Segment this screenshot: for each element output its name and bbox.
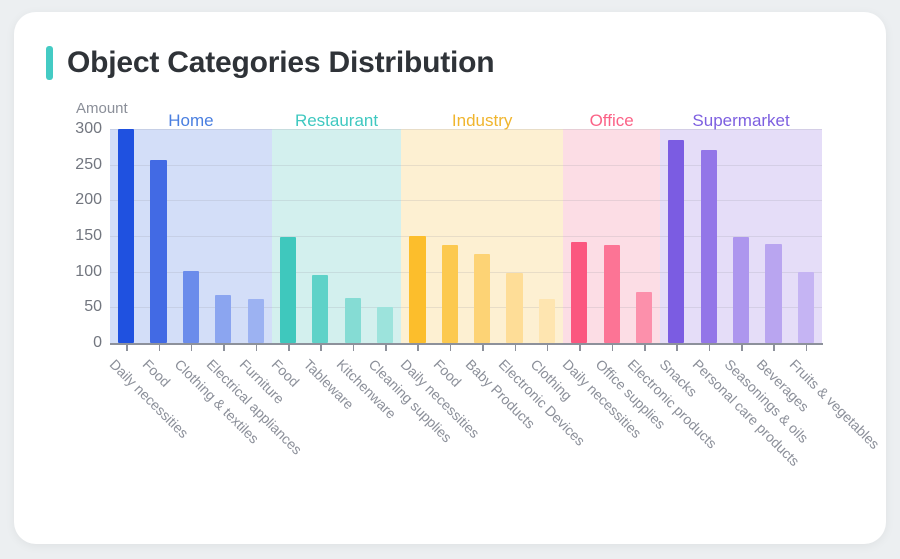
chart-card: Object Categories Distribution Amount 05…	[14, 12, 886, 544]
x-axis-tick	[126, 343, 128, 351]
bar[interactable]	[377, 307, 393, 343]
plot-area	[110, 129, 822, 343]
x-axis-tick	[353, 343, 355, 351]
bar[interactable]	[442, 245, 458, 343]
x-axis-tick	[450, 343, 452, 351]
x-axis-tick	[223, 343, 225, 351]
bar[interactable]	[312, 275, 328, 343]
x-axis-tick	[417, 343, 419, 351]
x-axis-tick	[773, 343, 775, 351]
bar[interactable]	[506, 273, 522, 343]
x-axis-line	[110, 343, 823, 345]
bar[interactable]	[280, 237, 296, 343]
x-axis-tick	[159, 343, 161, 351]
x-axis-tick	[676, 343, 678, 351]
bar[interactable]	[701, 150, 717, 343]
bar[interactable]	[345, 298, 361, 343]
bar[interactable]	[539, 299, 555, 343]
y-axis-tick-label: 150	[75, 227, 102, 245]
group-label-home: Home	[168, 111, 213, 131]
x-axis-tick	[385, 343, 387, 351]
bar[interactable]	[215, 295, 231, 343]
y-axis-ticks: 050100150200250300	[54, 129, 102, 343]
y-axis-tick-label: 300	[75, 120, 102, 138]
y-axis-tick-label: 50	[84, 298, 102, 316]
bar[interactable]	[571, 242, 587, 343]
bar[interactable]	[248, 299, 264, 343]
x-axis-tick	[191, 343, 193, 351]
x-axis-tick	[482, 343, 484, 351]
x-axis-tick	[256, 343, 258, 351]
y-axis-tick-label: 0	[93, 334, 102, 352]
group-label-supermarket: Supermarket	[692, 111, 789, 131]
bar-chart: Amount 050100150200250300 HomeRestaurant…	[14, 12, 886, 544]
bar[interactable]	[604, 245, 620, 343]
bar[interactable]	[636, 292, 652, 343]
bar[interactable]	[474, 254, 490, 343]
x-axis-tick	[806, 343, 808, 351]
group-label-office: Office	[590, 111, 634, 131]
bar[interactable]	[150, 160, 166, 343]
y-axis-title: Amount	[76, 100, 128, 117]
x-axis-tick	[644, 343, 646, 351]
y-axis-tick-label: 250	[75, 156, 102, 174]
bar[interactable]	[765, 244, 781, 343]
bar[interactable]	[668, 140, 684, 343]
bar[interactable]	[183, 271, 199, 343]
bar[interactable]	[733, 237, 749, 343]
bar[interactable]	[798, 272, 814, 343]
group-label-restaurant: Restaurant	[295, 111, 378, 131]
y-axis-tick-label: 200	[75, 191, 102, 209]
x-axis-tick	[741, 343, 743, 351]
x-axis-tick	[612, 343, 614, 351]
x-axis-tick	[709, 343, 711, 351]
x-axis-tick	[320, 343, 322, 351]
bar[interactable]	[409, 236, 425, 343]
x-axis-tick	[288, 343, 290, 351]
x-axis-tick	[515, 343, 517, 351]
group-label-industry: Industry	[452, 111, 512, 131]
x-axis-tick	[579, 343, 581, 351]
x-axis-tick	[547, 343, 549, 351]
bar[interactable]	[118, 129, 134, 343]
y-axis-tick-label: 100	[75, 263, 102, 281]
